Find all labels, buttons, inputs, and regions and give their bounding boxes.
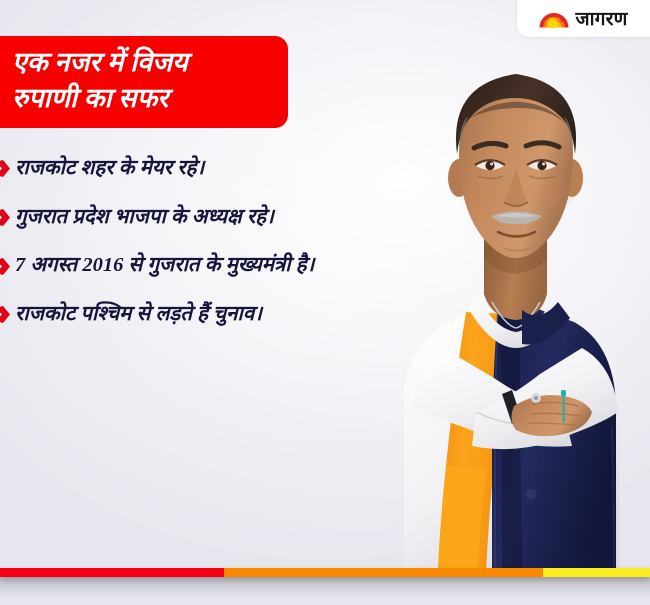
list-item: राजकोट पश्चिम से लड़ते हैं चुनाव। <box>0 302 314 328</box>
footer-segment-orange <box>224 568 543 577</box>
infographic-card: एक नजर में विजय रुपाणी का सफर राजकोट शहर… <box>0 0 650 605</box>
brand-logo[interactable]: जागरण <box>517 0 650 37</box>
headline-line-1: एक नजर में विजय <box>12 45 272 81</box>
collar <box>468 294 570 348</box>
list-item-label: राजकोट शहर के मेयर रहे। <box>15 156 204 182</box>
headline-line-2: रुपाणी का सफर <box>12 81 272 117</box>
torso <box>404 309 619 571</box>
footer-segment-red <box>0 568 224 577</box>
red-arrow-bullet-icon <box>0 160 10 177</box>
list-item-label: 7 अगस्त 2016 से गुजरात के मुख्यमंत्री है… <box>15 253 314 279</box>
list-item: 7 अगस्त 2016 से गुजरात के मुख्यमंत्री है… <box>0 253 314 279</box>
sunrise-icon <box>539 9 569 28</box>
list-item: राजकोट शहर के मेयर रहे। <box>0 156 314 182</box>
headline-banner: एक नजर में विजय रुपाणी का सफर <box>0 36 288 128</box>
vest-details <box>526 390 567 500</box>
red-arrow-bullet-icon <box>0 306 10 323</box>
footer-segment-yellow <box>543 568 650 577</box>
vijay-rupani-photo <box>326 26 650 571</box>
tricolor-footer-bar <box>0 568 650 577</box>
neck <box>484 232 547 320</box>
list-item: गुजरात प्रदेश भाजपा के अध्यक्ष रहे। <box>0 205 314 231</box>
red-arrow-bullet-icon <box>0 209 10 226</box>
head <box>448 74 583 258</box>
list-item-label: राजकोट पश्चिम से लड़ते हैं चुनाव। <box>15 302 262 328</box>
brand-name: जागरण <box>575 10 627 29</box>
crossed-arms <box>412 348 618 449</box>
red-arrow-bullet-icon <box>0 258 10 275</box>
footer-shadow <box>0 577 650 605</box>
list-item-label: गुजरात प्रदेश भाजपा के अध्यक्ष रहे। <box>15 205 274 231</box>
bullet-list: राजकोट शहर के मेयर रहे। गुजरात प्रदेश भा… <box>0 156 314 328</box>
